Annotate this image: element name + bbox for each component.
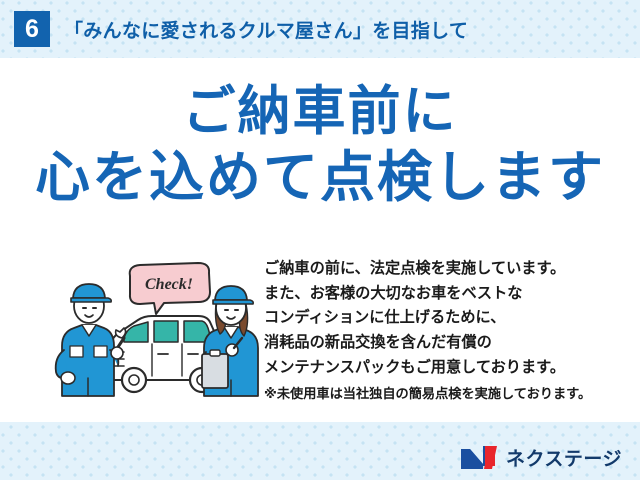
body-line-4: 消耗品の新品交換を含んだ有償の — [264, 331, 630, 356]
header-bar: 6 「みんなに愛されるクルマ屋さん」を目指して — [0, 0, 640, 58]
body-line-5: メンテナンスパックもご用意しております。 — [264, 356, 630, 381]
advertisement-root: 6 「みんなに愛されるクルマ屋さん」を目指して ご納車前に 心を込めて点検します — [0, 0, 640, 480]
headline-block: ご納車前に 心を込めて点検します — [0, 82, 640, 209]
speech-bubble-label: Check! — [145, 276, 193, 293]
body-line-1: ご納車の前に、法定点検を実施しています。 — [264, 257, 630, 282]
content-panel: ご納車前に 心を込めて点検します — [0, 58, 640, 422]
body-line-2: また、お客様の大切なお車をベストな — [264, 282, 630, 307]
body-copy-block: ご納車の前に、法定点検を実施しています。 また、お客様の大切なお車をベストな コ… — [264, 257, 630, 405]
brand-logo: ネクステージ — [459, 444, 622, 471]
headline-line-1: ご納車前に — [0, 82, 640, 141]
staff-female-figure — [202, 286, 258, 396]
brand-wordmark: ネクステージ — [506, 444, 622, 471]
body-line-3: コンディションに仕上げるために、 — [264, 306, 630, 331]
header-title: 「みんなに愛されるクルマ屋さん」を目指して — [64, 16, 468, 43]
nextage-n-logo-icon — [459, 445, 499, 470]
headline-line-2: 心を込めて点検します — [0, 147, 640, 209]
step-number-badge: 6 — [14, 11, 50, 47]
body-note-line: ※未使用車は当社独自の簡易点検を実施しております。 — [264, 383, 630, 404]
inspection-illustration: Check! — [52, 258, 264, 406]
